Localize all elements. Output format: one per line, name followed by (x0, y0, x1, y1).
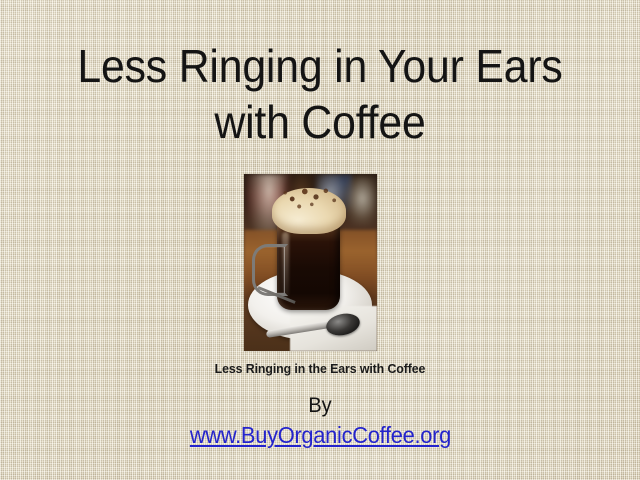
website-link[interactable]: www.BuyOrganicCoffee.org (189, 420, 450, 450)
photo-canvas (244, 174, 377, 351)
slide-title: Less Ringing in Your Ears with Coffee (48, 38, 591, 150)
url-line: www.BuyOrganicCoffee.org (120, 420, 520, 454)
photo-caption: Less Ringing in the Ears with Coffee (130, 361, 510, 376)
background-light-blur (344, 176, 377, 226)
cocoa-dusting (274, 184, 344, 218)
presentation-slide: Less Ringing in Your Ears with Coffee Le… (0, 0, 640, 480)
byline-label: By (130, 393, 510, 419)
coffee-photo (244, 174, 377, 351)
